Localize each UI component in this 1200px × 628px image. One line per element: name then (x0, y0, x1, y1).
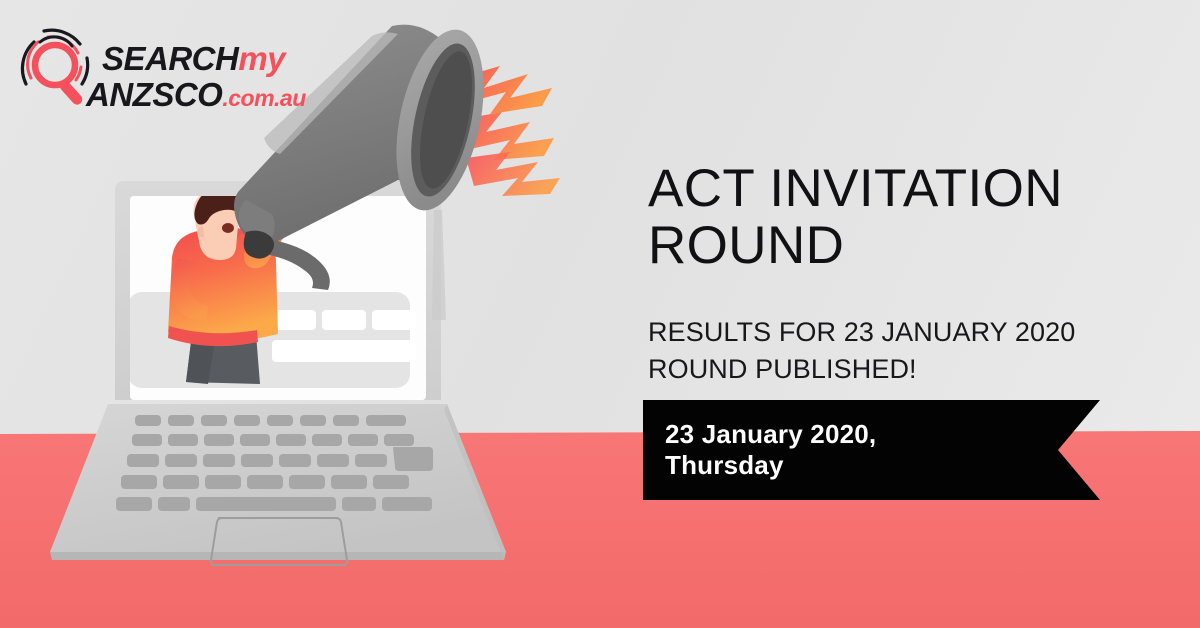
brand-search-text: SEARCH (102, 40, 238, 77)
brand-wordmark: SEARCHmy ANZSCO.com.au (102, 42, 306, 111)
date-ribbon-banner: 23 January 2020, Thursday (643, 400, 1100, 500)
banner-canvas: SEARCHmy ANZSCO.com.au ACT INVITATION RO… (0, 0, 1200, 628)
brand-my-text: my (238, 40, 285, 77)
headline-block: ACT INVITATION ROUND RESULTS FOR 23 JANU… (648, 160, 1168, 387)
brand-anzsco-text: ANZSCO (86, 76, 222, 113)
page-title: ACT INVITATION ROUND (648, 160, 1168, 274)
brand-line-2: ANZSCO.com.au (86, 78, 306, 111)
page-subtitle: RESULTS FOR 23 JANUARY 2020 ROUND PUBLIS… (648, 314, 1168, 386)
brand-logo[interactable]: SEARCHmy ANZSCO.com.au (14, 22, 304, 118)
brand-domain-text: .com.au (222, 85, 305, 111)
ribbon-date-text: 23 January 2020, Thursday (643, 419, 876, 480)
brand-line-1: SEARCHmy (102, 42, 306, 75)
